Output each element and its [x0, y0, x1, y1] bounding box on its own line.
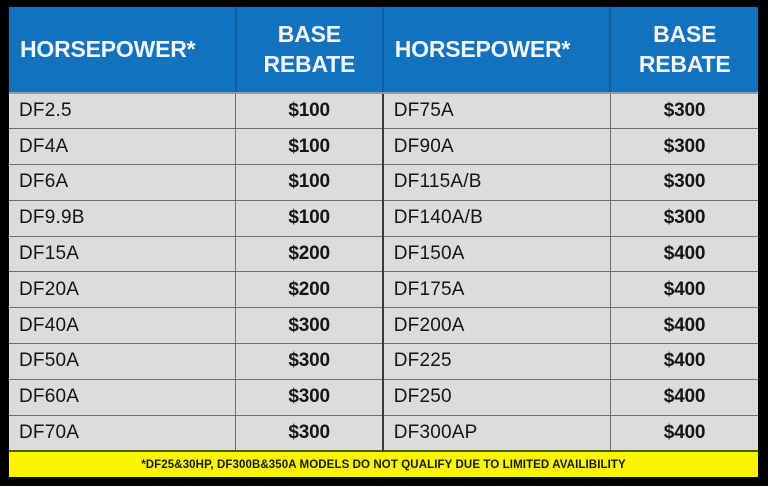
table-row: DF20A$200DF175A$400 — [9, 272, 758, 308]
rebate-table: HORSEPOWER* BASE REBATE HORSEPOWER* BASE… — [9, 7, 758, 477]
table-row: DF50A$300DF225$400 — [9, 344, 758, 380]
cell-horsepower-left: DF6A — [9, 165, 236, 201]
cell-rebate-left: $100 — [236, 129, 383, 165]
cell-rebate-right: $400 — [610, 272, 758, 308]
table-footer: *DF25&30HP, DF300B&350A MODELS DO NOT QU… — [9, 451, 758, 477]
cell-rebate-right: $400 — [610, 379, 758, 415]
table-row: DF9.9B$100DF140A/B$300 — [9, 200, 758, 236]
cell-horsepower-right: DF150A — [383, 236, 611, 272]
column-header-horsepower-left-label: HORSEPOWER* — [20, 36, 231, 63]
cell-horsepower-right: DF250 — [383, 379, 611, 415]
cell-rebate-right: $400 — [610, 344, 758, 380]
table-row: DF70A$300DF300AP$400 — [9, 415, 758, 451]
column-header-base-rebate-left-line2: REBATE — [241, 50, 378, 79]
cell-horsepower-right: DF225 — [383, 344, 611, 380]
table-body: DF2.5$100DF75A$300DF4A$100DF90A$300DF6A$… — [9, 93, 758, 451]
table-row: DF15A$200DF150A$400 — [9, 236, 758, 272]
cell-rebate-left: $100 — [236, 200, 383, 236]
column-header-base-rebate-right-line1: BASE — [615, 20, 754, 49]
column-header-base-rebate-right-line2: REBATE — [615, 50, 754, 79]
column-header-horsepower-right-label: HORSEPOWER* — [395, 36, 606, 63]
cell-horsepower-left: DF4A — [9, 129, 236, 165]
cell-horsepower-right: DF75A — [383, 93, 611, 129]
cell-rebate-right: $300 — [610, 93, 758, 129]
cell-rebate-right: $300 — [610, 165, 758, 201]
table-row: DF2.5$100DF75A$300 — [9, 93, 758, 129]
cell-horsepower-right: DF140A/B — [383, 200, 611, 236]
table-row: DF60A$300DF250$400 — [9, 379, 758, 415]
cell-horsepower-right: DF300AP — [383, 415, 611, 451]
cell-rebate-left: $300 — [236, 415, 383, 451]
cell-horsepower-left: DF40A — [9, 308, 236, 344]
cell-rebate-right: $400 — [610, 415, 758, 451]
cell-horsepower-left: DF70A — [9, 415, 236, 451]
cell-horsepower-left: DF60A — [9, 379, 236, 415]
cell-horsepower-right: DF90A — [383, 129, 611, 165]
cell-horsepower-left: DF9.9B — [9, 200, 236, 236]
cell-rebate-right: $300 — [610, 129, 758, 165]
cell-rebate-left: $200 — [236, 272, 383, 308]
cell-horsepower-left: DF2.5 — [9, 93, 236, 129]
cell-horsepower-right: DF115A/B — [383, 165, 611, 201]
cell-horsepower-left: DF50A — [9, 344, 236, 380]
column-header-horsepower-right: HORSEPOWER* — [383, 7, 611, 93]
rebate-table-frame: HORSEPOWER* BASE REBATE HORSEPOWER* BASE… — [0, 0, 768, 486]
table-row: DF6A$100DF115A/B$300 — [9, 165, 758, 201]
cell-horsepower-left: DF20A — [9, 272, 236, 308]
cell-horsepower-left: DF15A — [9, 236, 236, 272]
cell-rebate-right: $400 — [610, 308, 758, 344]
cell-rebate-left: $300 — [236, 379, 383, 415]
cell-rebate-left: $100 — [236, 93, 383, 129]
footnote-text: *DF25&30HP, DF300B&350A MODELS DO NOT QU… — [9, 451, 758, 477]
cell-rebate-left: $200 — [236, 236, 383, 272]
cell-rebate-left: $300 — [236, 308, 383, 344]
column-header-base-rebate-left-line1: BASE — [241, 20, 378, 49]
cell-rebate-left: $100 — [236, 165, 383, 201]
cell-horsepower-right: DF175A — [383, 272, 611, 308]
table-header: HORSEPOWER* BASE REBATE HORSEPOWER* BASE… — [9, 7, 758, 93]
header-row: HORSEPOWER* BASE REBATE HORSEPOWER* BASE… — [9, 7, 758, 93]
cell-rebate-right: $400 — [610, 236, 758, 272]
footer-row: *DF25&30HP, DF300B&350A MODELS DO NOT QU… — [9, 451, 758, 477]
cell-rebate-right: $300 — [610, 200, 758, 236]
column-header-base-rebate-right: BASE REBATE — [610, 7, 758, 93]
column-header-base-rebate-left: BASE REBATE — [236, 7, 383, 93]
cell-rebate-left: $300 — [236, 344, 383, 380]
column-header-horsepower-left: HORSEPOWER* — [9, 7, 236, 93]
table-row: DF4A$100DF90A$300 — [9, 129, 758, 165]
table-row: DF40A$300DF200A$400 — [9, 308, 758, 344]
cell-horsepower-right: DF200A — [383, 308, 611, 344]
